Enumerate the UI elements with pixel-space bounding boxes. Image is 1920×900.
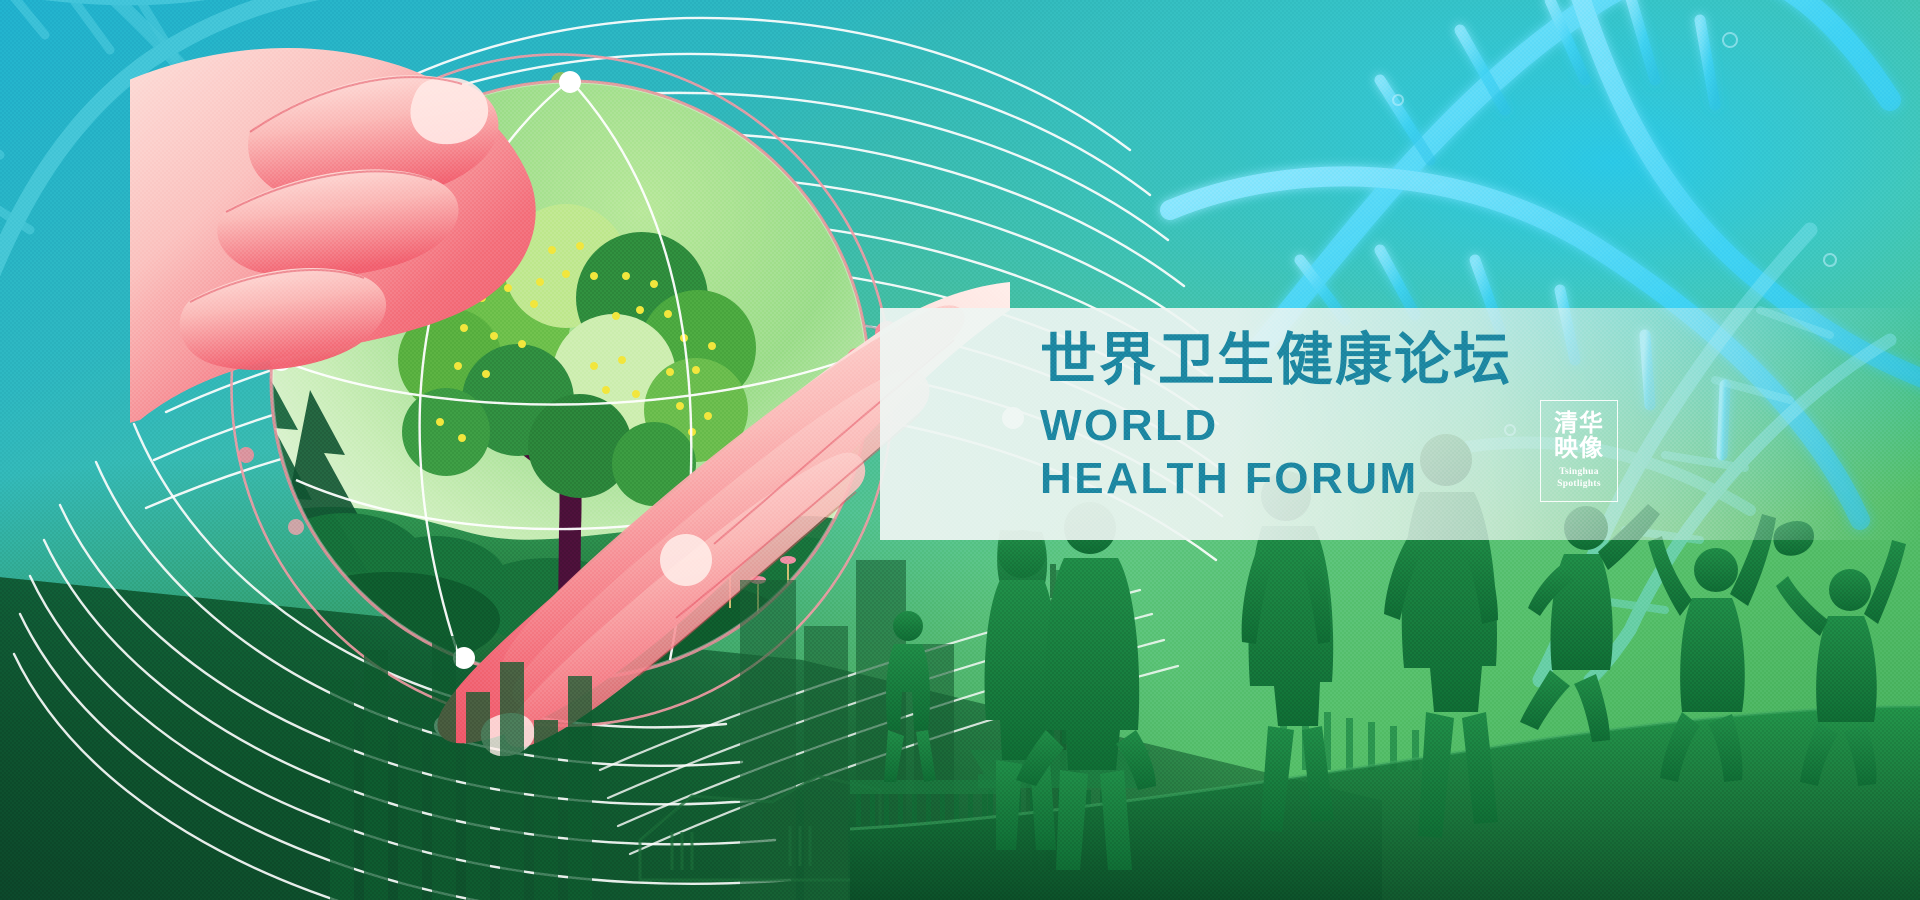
poster-canvas: 世界卫生健康论坛 WORLD HEALTH FORUM 清华 映像 Tsingh… — [0, 0, 1920, 900]
texture-grain-overlay — [0, 0, 1920, 900]
